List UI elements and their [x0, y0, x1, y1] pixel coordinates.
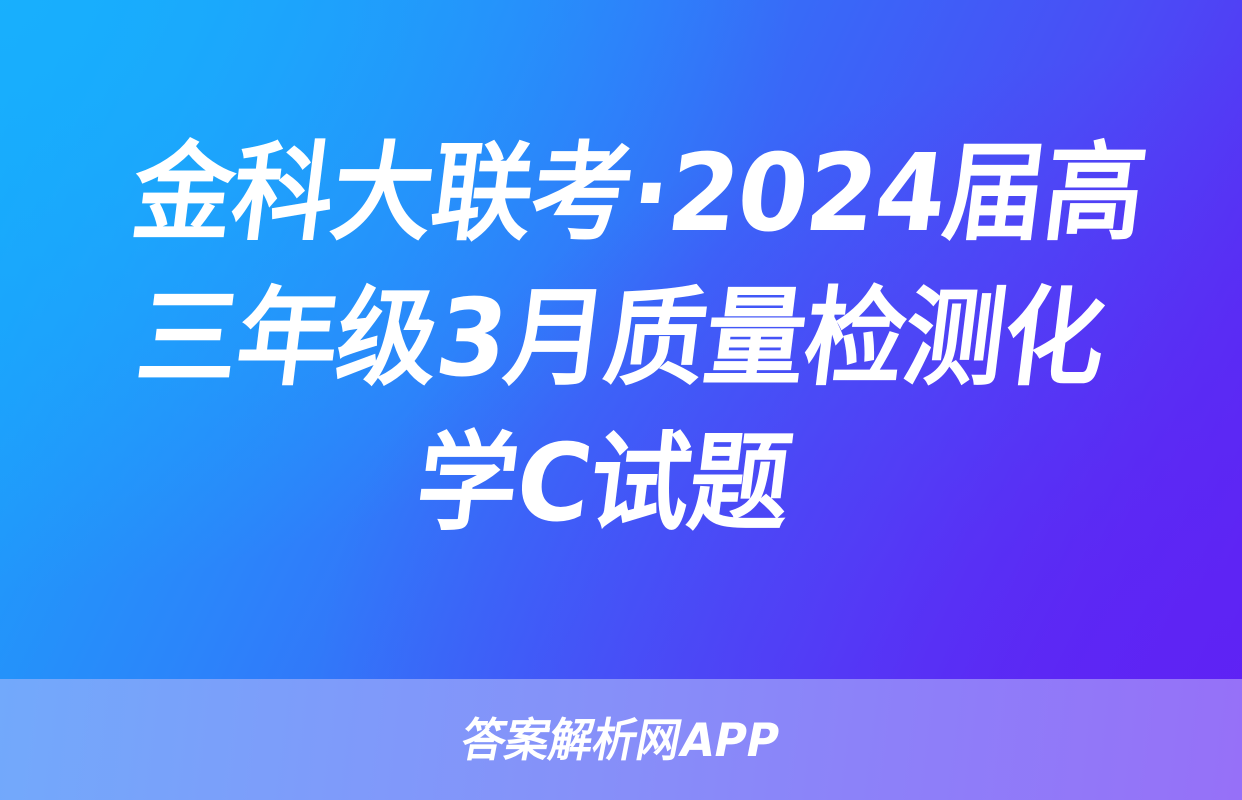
title-container: 金科大联考·2024届高三年级3月质量检测化学C试题 [0, 0, 1242, 679]
app-watermark-text: 答案解析网APP [458, 717, 783, 763]
poster-title: 金科大联考·2024届高三年级3月质量检测化学C试题 [82, 122, 1160, 557]
app-watermark-banner: 答案解析网APP [0, 679, 1242, 800]
exam-title-poster: 金科大联考·2024届高三年级3月质量检测化学C试题 答案解析网APP [0, 0, 1242, 800]
